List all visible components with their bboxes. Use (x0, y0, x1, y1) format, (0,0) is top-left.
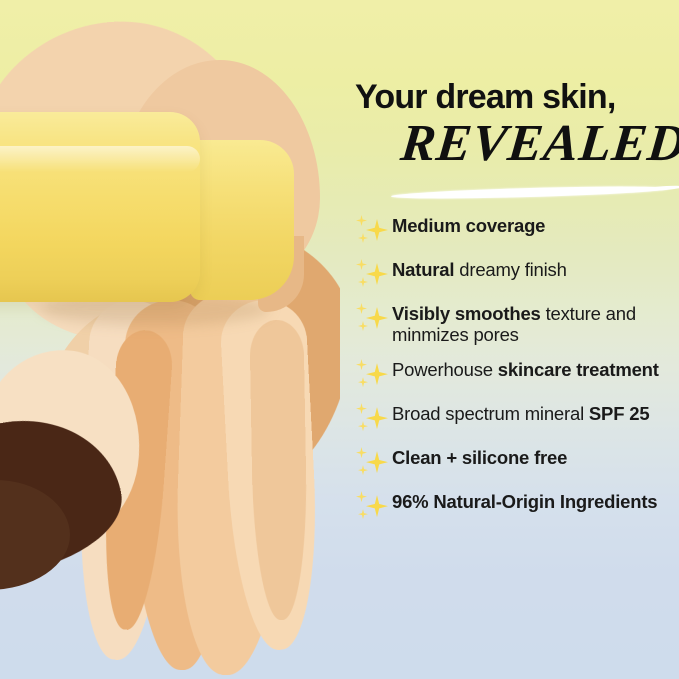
feature-list-item: Medium coverage (354, 214, 679, 245)
feature-list-item-label: Medium coverage (392, 214, 679, 236)
headline-block: Your dream skin, REVEALED (355, 80, 679, 170)
sparkle-icon (354, 259, 392, 289)
product-artwork (0, 0, 340, 679)
feature-list-item: Visibly smoothes texture and minmizes po… (354, 302, 679, 345)
sparkle-icon (354, 491, 392, 521)
feature-bold-lead: 96% Natural-Origin Ingredients (392, 491, 657, 512)
sparkle-icon (354, 215, 392, 245)
feature-list-item-label: Clean + silicone free (392, 446, 679, 468)
feature-list-item: Natural dreamy finish (354, 258, 679, 289)
feature-regular-text: Powerhouse (392, 359, 498, 380)
sparkle-icon (354, 403, 392, 433)
feature-list-item: Clean + silicone free (354, 446, 679, 477)
feature-list: Medium coverageNatural dreamy finishVisi… (354, 214, 679, 534)
brush-underline (391, 184, 669, 201)
feature-list-item-label: 96% Natural-Origin Ingredients (392, 490, 679, 512)
sparkle-icon (354, 447, 392, 477)
feature-bold-lead: Visibly smoothes (392, 303, 541, 324)
product-marketing-image: Your dream skin, REVEALED Medium coverag… (0, 0, 679, 679)
feature-list-item: 96% Natural-Origin Ingredients (354, 490, 679, 521)
feature-regular-text: Broad spectrum mineral (392, 403, 589, 424)
sparkle-icon (354, 359, 392, 389)
sparkle-icon (354, 303, 392, 333)
feature-bold-lead: Clean + silicone free (392, 447, 567, 468)
feature-list-item: Powerhouse skincare treatment (354, 358, 679, 389)
feature-regular-text: dreamy finish (454, 259, 566, 280)
feature-list-item-label: Natural dreamy finish (392, 258, 679, 280)
feature-bold-lead: Medium coverage (392, 215, 545, 236)
feature-list-item-label: Broad spectrum mineral SPF 25 (392, 402, 679, 424)
feature-bold-tail: skincare treatment (498, 359, 659, 380)
feature-list-item-label: Visibly smoothes texture and minmizes po… (392, 302, 679, 345)
tube-gloss-highlight (0, 146, 200, 172)
product-tube-body (0, 112, 200, 302)
feature-list-item-label: Powerhouse skincare treatment (392, 358, 679, 380)
feature-list-item: Broad spectrum mineral SPF 25 (354, 402, 679, 433)
headline-line-1: Your dream skin, (355, 80, 679, 114)
feature-bold-lead: Natural (392, 259, 454, 280)
product-tube-cap (190, 140, 294, 300)
feature-bold-tail: SPF 25 (589, 403, 650, 424)
text-panel: Your dream skin, REVEALED Medium coverag… (350, 0, 679, 679)
headline-line-2-script: REVEALED (398, 118, 679, 170)
